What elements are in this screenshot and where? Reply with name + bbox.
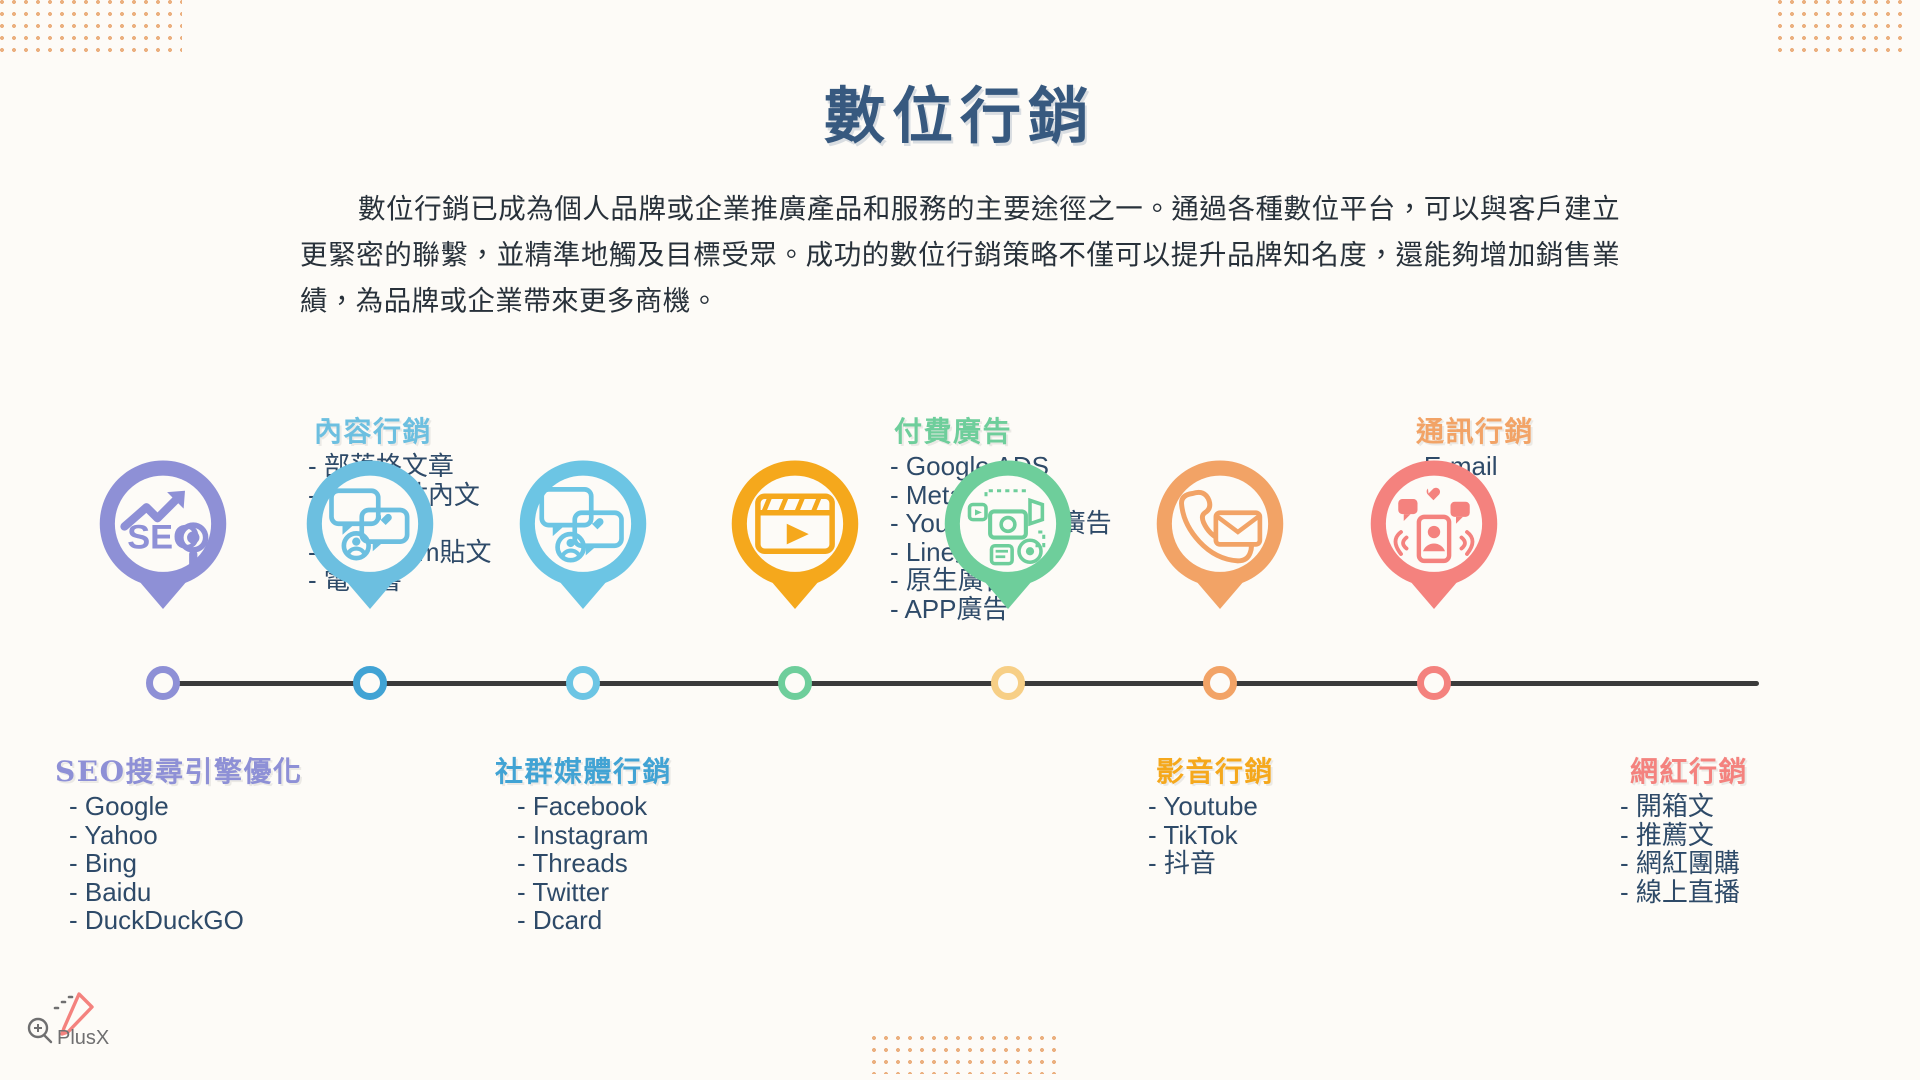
block-influencer: 網紅行銷 - 開箱文 - 推薦文 - 網紅團購 - 線上直播 <box>1610 750 1860 906</box>
list-item: - Dcard <box>517 906 755 935</box>
timeline-node-messaging[interactable] <box>1203 666 1237 700</box>
timeline-node-seo[interactable] <box>146 666 180 700</box>
brand-logo[interactable]: PlusX <box>24 988 144 1050</box>
block-title-content: 內容行銷 <box>300 410 560 450</box>
list-item: - 推薦文 <box>1620 821 1860 850</box>
pin-seo[interactable]: SEO <box>86 455 240 609</box>
pin-content[interactable] <box>293 455 447 609</box>
pin-messaging[interactable] <box>1143 455 1297 609</box>
page-title: 數位行銷 <box>0 66 1920 155</box>
decorative-dot-grid-top-left <box>0 0 182 58</box>
video-player-icon <box>718 455 872 609</box>
svg-text:PlusX: PlusX <box>57 1027 109 1049</box>
ad-network-icon <box>931 455 1085 609</box>
list-item: - Twitter <box>517 878 755 907</box>
decorative-dot-grid-bottom <box>868 1032 1064 1074</box>
intro-paragraph: 數位行銷已成為個人品牌或企業推廣產品和服務的主要途徑之一。通過各種數位平台，可以… <box>300 186 1620 324</box>
timeline-axis <box>163 681 1759 686</box>
timeline-node-paid-ads[interactable] <box>778 666 812 700</box>
pin-video[interactable] <box>931 455 1085 609</box>
list-item: - 線上直播 <box>1620 878 1860 907</box>
pin-influencer[interactable] <box>1357 455 1511 609</box>
seo-growth-icon: SEO <box>86 455 240 609</box>
list-item: - Bing <box>69 849 325 878</box>
block-list-social: - Facebook - Instagram - Threads - Twitt… <box>495 792 755 935</box>
block-title-messaging: 通訊行銷 <box>1400 410 1650 450</box>
phone-email-icon <box>1143 455 1297 609</box>
pluslogo-icon: PlusX <box>24 988 144 1050</box>
decorative-dot-grid-top-right <box>1774 0 1902 58</box>
list-item: - DuckDuckGO <box>69 906 325 935</box>
list-item: - 開箱文 <box>1620 792 1860 821</box>
pin-social[interactable] <box>506 455 660 609</box>
pin-paid-ads[interactable] <box>718 455 872 609</box>
list-item: - Facebook <box>517 792 755 821</box>
block-title-seo: SEO搜尋引擎優化 <box>55 750 325 790</box>
block-video: 影音行銷 - Youtube - TikTok - 抖音 <box>1140 750 1390 878</box>
list-item: - Threads <box>517 849 755 878</box>
list-item: - Instagram <box>517 821 755 850</box>
block-social: 社群媒體行銷 - Facebook - Instagram - Threads … <box>495 750 755 935</box>
chat-bubbles-icon <box>293 455 447 609</box>
list-item: - 網紅團購 <box>1620 849 1860 878</box>
block-seo: SEO搜尋引擎優化 - Google - Yahoo - Bing - Baid… <box>55 750 325 935</box>
list-item: - Yahoo <box>69 821 325 850</box>
list-item: - Youtube <box>1148 792 1390 821</box>
block-title-paid-ads: 付費廣告 <box>890 410 1170 450</box>
block-list-video: - Youtube - TikTok - 抖音 <box>1140 792 1390 878</box>
influencer-phone-icon <box>1357 455 1511 609</box>
block-title-influencer: 網紅行銷 <box>1610 750 1860 790</box>
block-title-video: 影音行銷 <box>1140 750 1390 790</box>
block-title-social: 社群媒體行銷 <box>495 750 755 790</box>
block-list-seo: - Google - Yahoo - Bing - Baidu - DuckDu… <box>55 792 325 935</box>
list-item: - Baidu <box>69 878 325 907</box>
social-bubble-icon <box>506 455 660 609</box>
timeline-node-content[interactable] <box>353 666 387 700</box>
list-item: - Google <box>69 792 325 821</box>
list-item: - 抖音 <box>1148 849 1390 878</box>
block-list-influencer: - 開箱文 - 推薦文 - 網紅團購 - 線上直播 <box>1610 792 1860 906</box>
timeline-node-influencer[interactable] <box>1417 666 1451 700</box>
timeline-node-video[interactable] <box>991 666 1025 700</box>
timeline-node-social[interactable] <box>566 666 600 700</box>
list-item: - TikTok <box>1148 821 1390 850</box>
